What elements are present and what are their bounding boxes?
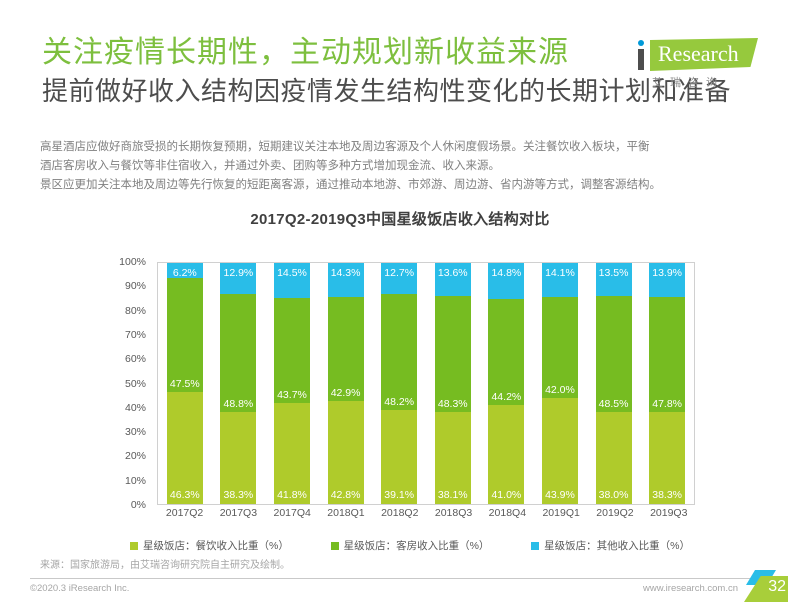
legend-swatch-icon	[130, 542, 138, 550]
bar-segment[interactable]: 42.0%	[542, 297, 578, 398]
bar-segment[interactable]: 13.6%	[435, 263, 471, 296]
bar-value-label: 38.3%	[220, 489, 256, 501]
legend-label: 星级饭店：客房收入比重（%）	[344, 538, 490, 553]
bar-segment[interactable]: 43.7%	[274, 298, 310, 403]
bar-2019Q1[interactable]: 14.1%42.0%43.9%	[542, 263, 578, 504]
bar-value-label: 47.5%	[167, 378, 203, 390]
footer-copyright: ©2020.3 iResearch Inc.	[30, 583, 129, 594]
x-axis-tick: 2018Q3	[435, 507, 471, 519]
bar-value-label: 46.3%	[167, 489, 203, 501]
legend-swatch-icon	[531, 542, 539, 550]
bar-segment[interactable]: 46.3%	[167, 392, 203, 504]
legend-label: 星级饭店：其他收入比重（%）	[544, 538, 690, 553]
bar-value-label: 38.0%	[596, 489, 632, 501]
bar-value-label: 41.0%	[488, 489, 524, 501]
bar-segment[interactable]: 13.5%	[596, 263, 632, 296]
bar-segment[interactable]: 13.9%	[649, 263, 685, 296]
chart-title: 2017Q2-2019Q3中国星级饭店收入结构对比	[0, 208, 800, 229]
plot-area: 6.2%47.5%46.3%12.9%48.8%38.3%14.5%43.7%4…	[157, 262, 695, 505]
y-axis-tick: 70%	[125, 329, 146, 341]
bar-value-label: 41.8%	[274, 489, 310, 501]
logo-chinese-name: 艾瑞咨询	[636, 74, 758, 90]
legend-swatch-icon	[331, 542, 339, 550]
iresearch-logo: Research 艾瑞咨询	[636, 38, 758, 90]
bar-segment[interactable]: 47.8%	[649, 297, 685, 412]
logo-wordmark: Research	[658, 41, 739, 67]
bar-segment[interactable]: 14.3%	[328, 263, 364, 297]
y-axis-tick: 10%	[125, 475, 146, 487]
slide-header: 关注疫情长期性，主动规划新收益来源 提前做好收入结构因疫情发生结构性变化的长期计…	[42, 34, 758, 108]
x-axis-tick: 2017Q2	[166, 507, 202, 519]
bar-value-label: 43.9%	[542, 489, 578, 501]
y-axis-tick: 30%	[125, 426, 146, 438]
body-line-1: 高星酒店应做好商旅受损的长期恢复预期，短期建议关注本地及周边客源及个人休闲度假场…	[40, 138, 770, 157]
x-axis-tick: 2019Q1	[542, 507, 578, 519]
bar-segment[interactable]: 48.5%	[596, 296, 632, 413]
y-axis-tick: 100%	[119, 256, 146, 268]
bar-2019Q2[interactable]: 13.5%48.5%38.0%	[596, 263, 632, 504]
bar-value-label: 38.3%	[649, 489, 685, 501]
x-axis-tick: 2019Q2	[596, 507, 632, 519]
bar-segment[interactable]: 48.2%	[381, 294, 417, 410]
bar-value-label: 14.5%	[274, 267, 310, 279]
bar-value-label: 14.8%	[488, 267, 524, 279]
y-axis-tick: 60%	[125, 353, 146, 365]
bar-segment[interactable]: 44.2%	[488, 299, 524, 406]
legend-label: 星级饭店：餐饮收入比重（%）	[143, 538, 289, 553]
bar-segment[interactable]: 48.8%	[220, 294, 256, 412]
x-axis-tick: 2019Q3	[650, 507, 686, 519]
footer-divider	[30, 578, 770, 579]
stacked-bar-chart: 100%90%80%70%60%50%40%30%20%10%0% 6.2%47…	[110, 255, 710, 510]
bar-segment[interactable]: 41.8%	[274, 403, 310, 504]
x-axis-tick: 2018Q2	[381, 507, 417, 519]
bar-value-label: 12.7%	[381, 267, 417, 279]
chart-legend: 星级饭店：餐饮收入比重（%）星级饭店：客房收入比重（%）星级饭店：其他收入比重（…	[110, 538, 710, 553]
body-line-3: 景区应更加关注本地及周边等先行恢复的短距离客源，通过推动本地游、市郊游、周边游、…	[40, 176, 770, 195]
legend-item[interactable]: 星级饭店：客房收入比重（%）	[331, 538, 490, 553]
bar-value-label: 13.5%	[596, 267, 632, 279]
bar-segment[interactable]: 43.9%	[542, 398, 578, 504]
logo-i-stem-icon	[638, 49, 644, 70]
y-axis-tick: 90%	[125, 280, 146, 292]
x-axis-tick: 2017Q3	[220, 507, 256, 519]
bar-segment[interactable]: 12.9%	[220, 263, 256, 294]
logo-i-dot-icon	[638, 40, 644, 46]
y-axis-tick: 0%	[131, 499, 146, 511]
bar-value-label: 38.1%	[435, 489, 471, 501]
bar-value-label: 43.7%	[274, 389, 310, 401]
bar-value-label: 42.9%	[328, 387, 364, 399]
x-axis-tick: 2018Q1	[327, 507, 363, 519]
bar-segment[interactable]: 42.8%	[328, 401, 364, 504]
bar-segment[interactable]: 41.0%	[488, 405, 524, 504]
bar-segment[interactable]: 6.2%	[167, 263, 203, 278]
bar-value-label: 48.3%	[435, 398, 471, 410]
y-axis: 100%90%80%70%60%50%40%30%20%10%0%	[110, 255, 150, 505]
bar-segment[interactable]: 14.1%	[542, 263, 578, 297]
bar-2018Q2[interactable]: 12.7%48.2%39.1%	[381, 263, 417, 504]
bar-value-label: 42.8%	[328, 489, 364, 501]
bar-segment[interactable]: 38.3%	[649, 412, 685, 504]
bar-value-label: 39.1%	[381, 489, 417, 501]
source-note: 来源：国家旅游局，由艾瑞咨询研究院自主研究及绘制。	[40, 556, 290, 571]
bar-segment[interactable]: 42.9%	[328, 297, 364, 400]
bar-segment[interactable]: 38.1%	[435, 412, 471, 504]
bar-segment[interactable]: 47.5%	[167, 278, 203, 392]
bar-segment[interactable]: 12.7%	[381, 263, 417, 294]
bar-2019Q3[interactable]: 13.9%47.8%38.3%	[649, 263, 685, 504]
bar-value-label: 47.8%	[649, 398, 685, 410]
bar-segment[interactable]: 38.0%	[596, 412, 632, 504]
bar-2017Q4[interactable]: 14.5%43.7%41.8%	[274, 263, 310, 504]
x-axis-tick: 2018Q4	[489, 507, 525, 519]
bar-value-label: 14.1%	[542, 267, 578, 279]
y-axis-tick: 40%	[125, 402, 146, 414]
bar-segment[interactable]: 14.5%	[274, 263, 310, 298]
y-axis-tick: 80%	[125, 305, 146, 317]
bar-value-label: 44.2%	[488, 391, 524, 403]
bar-2018Q4[interactable]: 14.8%44.2%41.0%	[488, 263, 524, 504]
footer-website: www.iresearch.com.cn	[643, 583, 738, 594]
bar-segment[interactable]: 14.8%	[488, 263, 524, 299]
bar-2018Q1[interactable]: 14.3%42.9%42.8%	[328, 263, 364, 504]
y-axis-tick: 20%	[125, 450, 146, 462]
bar-value-label: 13.9%	[649, 267, 685, 279]
bar-2018Q3[interactable]: 13.6%48.3%38.1%	[435, 263, 471, 504]
page-title: 关注疫情长期性，主动规划新收益来源	[42, 34, 731, 72]
bar-value-label: 14.3%	[328, 267, 364, 279]
legend-item[interactable]: 星级饭店：餐饮收入比重（%）	[130, 538, 289, 553]
page-subtitle: 提前做好收入结构因疫情发生结构性变化的长期计划和准备	[42, 74, 731, 108]
bar-2017Q2[interactable]: 6.2%47.5%46.3%	[167, 263, 203, 504]
y-axis-tick: 50%	[125, 378, 146, 390]
bar-value-label: 48.8%	[220, 398, 256, 410]
bar-value-label: 42.0%	[542, 384, 578, 396]
logo-mark: Research	[636, 38, 758, 72]
bar-value-label: 48.5%	[596, 398, 632, 410]
x-axis: 2017Q22017Q32017Q42018Q12018Q22018Q32018…	[157, 507, 695, 519]
legend-item[interactable]: 星级饭店：其他收入比重（%）	[531, 538, 690, 553]
bar-2017Q3[interactable]: 12.9%48.8%38.3%	[220, 263, 256, 504]
body-line-2: 酒店客房收入与餐饮等非住宿收入，并通过外卖、团购等多种方式增加现金流、收入来源。	[40, 157, 770, 176]
bar-value-label: 12.9%	[220, 267, 256, 279]
body-paragraphs: 高星酒店应做好商旅受损的长期恢复预期，短期建议关注本地及周边客源及个人休闲度假场…	[40, 138, 770, 195]
x-axis-tick: 2017Q4	[273, 507, 309, 519]
page-number-badge: 32	[738, 570, 794, 600]
bar-segment[interactable]: 38.3%	[220, 412, 256, 504]
bar-value-label: 48.2%	[381, 396, 417, 408]
page-number: 32	[768, 578, 786, 596]
bar-value-label: 13.6%	[435, 267, 471, 279]
bar-segment[interactable]: 39.1%	[381, 410, 417, 504]
bar-segment[interactable]: 48.3%	[435, 296, 471, 412]
